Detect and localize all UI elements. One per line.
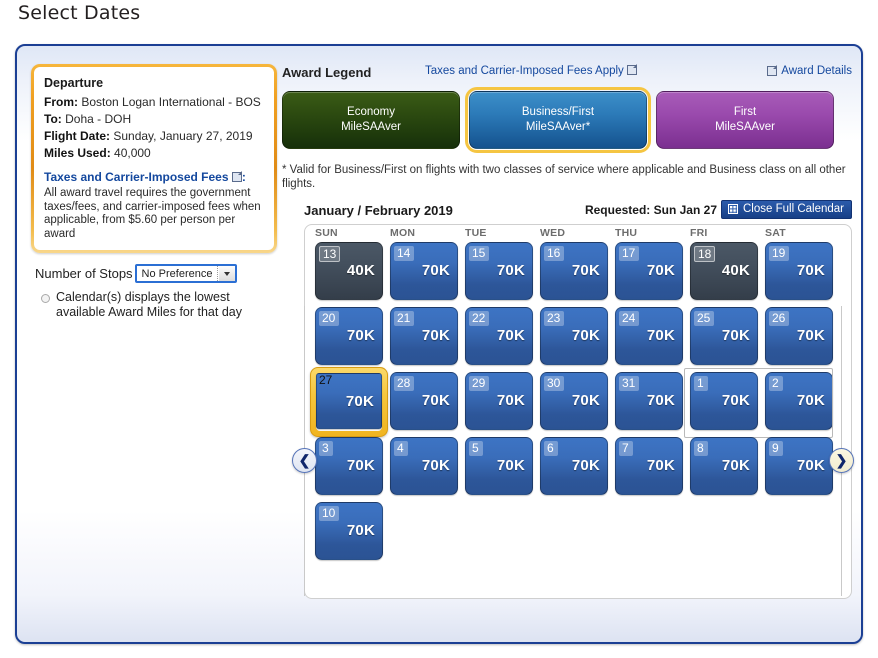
calendar-cell-empty	[538, 502, 610, 564]
day-award-miles: 70K	[722, 392, 750, 409]
day-award-miles: 70K	[797, 457, 825, 474]
day-award-miles: 70K	[647, 262, 675, 279]
taxes-link-colon: :	[242, 170, 246, 184]
departure-to-value: Doha - DOH	[65, 112, 131, 126]
day-number: 28	[394, 376, 414, 391]
calendar-cell-10: 1070K	[313, 502, 385, 564]
day-button-26[interactable]: 2670K	[765, 307, 833, 365]
departure-from-label: From:	[44, 95, 78, 109]
day-number: 26	[769, 311, 789, 326]
day-button-31[interactable]: 3170K	[615, 372, 683, 430]
day-award-miles: 70K	[422, 327, 450, 344]
day-number: 7	[619, 441, 633, 456]
day-award-miles: 70K	[422, 457, 450, 474]
day-button-10[interactable]: 1070K	[315, 502, 383, 560]
legend-button-business-first-line2: MileSAAver*	[526, 120, 590, 135]
calendar-cell-empty	[688, 502, 760, 564]
taxes-apply-link-label: Taxes and Carrier-Imposed Fees Apply	[425, 65, 624, 77]
day-button-8[interactable]: 870K	[690, 437, 758, 495]
calendar-dow-mon: MON	[388, 227, 460, 239]
award-details-link-label: Award Details	[781, 65, 852, 77]
calendar-grid-icon	[728, 204, 738, 214]
external-link-icon	[627, 65, 637, 75]
day-number: 25	[694, 311, 714, 326]
day-number: 6	[544, 441, 558, 456]
day-button-21[interactable]: 2170K	[390, 307, 458, 365]
legend-button-economy-line1: Economy	[347, 105, 395, 120]
departure-from-value: Boston Logan International - BOS	[81, 95, 260, 109]
day-award-miles: 40K	[722, 262, 750, 279]
calendar-weeks: 1340K1470K1570K1670K1770K1840K1970K2070K…	[313, 242, 843, 564]
calendar-dow-tue: TUE	[463, 227, 535, 239]
calendar-dow-sat: SAT	[763, 227, 835, 239]
departure-miles-row: Miles Used: 40,000	[44, 145, 264, 161]
day-button-13[interactable]: 1340K	[315, 242, 383, 300]
day-button-15[interactable]: 1570K	[465, 242, 533, 300]
day-button-7[interactable]: 770K	[615, 437, 683, 495]
day-award-miles: 70K	[722, 327, 750, 344]
legend-button-economy-line2: MileSAAver	[341, 120, 401, 135]
day-number: 1	[694, 376, 708, 391]
calendar-cell-empty	[388, 502, 460, 564]
previous-week-button[interactable]: ❮	[292, 448, 317, 473]
award-calendar-panel: Departure From: Boston Logan Internation…	[15, 44, 863, 644]
chevron-right-icon: ❯	[836, 453, 848, 467]
departure-to-row: To: Doha - DOH	[44, 111, 264, 127]
calendar-dow-thu: THU	[613, 227, 685, 239]
day-number: 10	[319, 506, 339, 521]
day-award-miles: 70K	[497, 392, 525, 409]
calendar-cell-24: 2470K	[613, 307, 685, 369]
award-legend-buttons: Economy MileSAAver Business/First MileSA…	[282, 91, 852, 149]
calendar-cell-20: 2070K	[313, 307, 385, 369]
departure-from-row: From: Boston Logan International - BOS	[44, 94, 264, 110]
number-of-stops-value: No Preference	[137, 266, 219, 281]
departure-date-label: Flight Date:	[44, 129, 110, 143]
day-number: 13	[319, 246, 340, 262]
day-number: 5	[469, 441, 483, 456]
external-link-icon	[767, 66, 777, 76]
calendar-cell-29: 2970K	[463, 372, 535, 434]
calendar-cell-empty	[613, 502, 685, 564]
departure-to-label: To:	[44, 112, 62, 126]
departure-miles-value: 40,000	[114, 146, 151, 160]
calendar-cell-3: 370K	[313, 437, 385, 499]
day-award-miles: 70K	[347, 457, 375, 474]
calendar-week-row: 1070K	[313, 502, 843, 564]
departure-heading: Departure	[44, 76, 264, 90]
day-number: 9	[769, 441, 783, 456]
number-of-stops-label: Number of Stops	[35, 266, 133, 281]
taxes-and-fees-description: All award travel requires the government…	[44, 187, 264, 241]
day-button-27[interactable]: 2770K	[316, 373, 382, 429]
day-button-22[interactable]: 2270K	[465, 307, 533, 365]
day-award-miles: 70K	[572, 457, 600, 474]
requested-date-label: Requested: Sun Jan 27	[585, 203, 717, 217]
calendar-dow-wed: WED	[538, 227, 610, 239]
calendar-week-row: 370K470K570K670K770K870K970K	[313, 437, 843, 499]
calendar-cell-17: 1770K	[613, 242, 685, 304]
legend-button-business-first-line1: Business/First	[522, 105, 594, 120]
calendar-cell-21: 2170K	[388, 307, 460, 369]
day-button-30[interactable]: 3070K	[540, 372, 608, 430]
calendar-month-title: January / February 2019	[304, 203, 453, 218]
screen: Select Dates Departure From: Boston Loga…	[0, 0, 878, 658]
number-of-stops-row: Number of Stops No Preference	[35, 264, 277, 283]
day-award-miles: 70K	[797, 392, 825, 409]
taxes-apply-link[interactable]: Taxes and Carrier-Imposed Fees Apply	[425, 65, 637, 77]
calendar-cell-23: 2370K	[538, 307, 610, 369]
radio-icon[interactable]	[41, 294, 50, 303]
departure-summary-card: Departure From: Boston Logan Internation…	[31, 64, 277, 253]
day-button-1[interactable]: 170K	[690, 372, 758, 430]
day-award-miles: 70K	[572, 392, 600, 409]
calendar-cell-19: 1970K	[763, 242, 835, 304]
calendar-dow-row: SUNMONTUEWEDTHUFRISAT	[313, 227, 843, 239]
day-number: 20	[319, 311, 339, 326]
taxes-and-fees-link-label: Taxes and Carrier-Imposed Fees	[44, 170, 229, 184]
calendar-grid: SUNMONTUEWEDTHUFRISAT 1340K1470K1570K167…	[304, 224, 852, 599]
calendar-cell-16: 1670K	[538, 242, 610, 304]
calendar-header: January / February 2019 Requested: Sun J…	[304, 202, 852, 220]
legend-button-first[interactable]: First MileSAAver	[656, 91, 834, 149]
day-number: 4	[394, 441, 408, 456]
calendar-cell-14: 1470K	[388, 242, 460, 304]
day-button-14[interactable]: 1470K	[390, 242, 458, 300]
day-button-18[interactable]: 1840K	[690, 242, 758, 300]
day-number: 2	[769, 376, 783, 391]
day-award-miles: 70K	[422, 262, 450, 279]
day-button-25[interactable]: 2570K	[690, 307, 758, 365]
calendar-cell-28: 2870K	[388, 372, 460, 434]
calendar: January / February 2019 Requested: Sun J…	[304, 202, 852, 599]
calendar-cell-30: 3070K	[538, 372, 610, 434]
award-legend-title: Award Legend	[282, 65, 371, 80]
day-award-miles: 70K	[722, 457, 750, 474]
award-legend-footnote: * Valid for Business/First on flights wi…	[282, 163, 854, 191]
day-number: 23	[544, 311, 564, 326]
calendar-cell-1: 170K	[688, 372, 760, 434]
day-award-miles: 70K	[647, 392, 675, 409]
day-number: 18	[694, 246, 715, 262]
calendar-note-label: Calendar(s) displays the lowest availabl…	[56, 290, 246, 320]
calendar-cell-9: 970K	[763, 437, 835, 499]
chevron-down-icon[interactable]	[218, 266, 235, 281]
calendar-cell-5: 570K	[463, 437, 535, 499]
day-button-29[interactable]: 2970K	[465, 372, 533, 430]
calendar-week-row: 2070K2170K2270K2370K2470K2570K2670K	[313, 307, 843, 369]
day-button-28[interactable]: 2870K	[390, 372, 458, 430]
day-number: 24	[619, 311, 639, 326]
day-button-23[interactable]: 2370K	[540, 307, 608, 365]
departure-date-value: Sunday, January 27, 2019	[113, 129, 252, 143]
day-button-2[interactable]: 270K	[765, 372, 833, 430]
calendar-cell-25: 2570K	[688, 307, 760, 369]
day-number: 21	[394, 311, 414, 326]
day-number: 29	[469, 376, 489, 391]
day-number: 17	[619, 246, 639, 261]
day-button-6[interactable]: 670K	[540, 437, 608, 495]
left-column: Departure From: Boston Logan Internation…	[31, 64, 277, 320]
award-details-link[interactable]: Award Details	[767, 65, 852, 77]
day-number: 22	[469, 311, 489, 326]
day-number: 3	[319, 441, 333, 456]
day-number: 16	[544, 246, 564, 261]
day-award-miles: 70K	[497, 262, 525, 279]
page-title: Select Dates	[18, 2, 140, 24]
day-number: 15	[469, 246, 489, 261]
day-button-24[interactable]: 2470K	[615, 307, 683, 365]
calendar-dow-sun: SUN	[313, 227, 385, 239]
calendar-week-row: 1340K1470K1570K1670K1770K1840K1970K	[313, 242, 843, 304]
day-number: 30	[544, 376, 564, 391]
day-number: 31	[619, 376, 639, 391]
departure-date-row: Flight Date: Sunday, January 27, 2019	[44, 128, 264, 144]
day-button-17[interactable]: 1770K	[615, 242, 683, 300]
day-button-3[interactable]: 370K	[315, 437, 383, 495]
day-award-miles: 70K	[497, 327, 525, 344]
next-week-button[interactable]: ❯	[829, 448, 854, 473]
day-award-miles: 70K	[347, 522, 375, 539]
departure-miles-label: Miles Used:	[44, 146, 111, 160]
calendar-note-row[interactable]: Calendar(s) displays the lowest availabl…	[41, 290, 277, 320]
day-award-miles: 70K	[347, 327, 375, 344]
day-button-5[interactable]: 570K	[465, 437, 533, 495]
calendar-cell-15: 1570K	[463, 242, 535, 304]
day-button-16[interactable]: 1670K	[540, 242, 608, 300]
calendar-cell-empty	[463, 502, 535, 564]
calendar-cell-26: 2670K	[763, 307, 835, 369]
calendar-cell-22: 2270K	[463, 307, 535, 369]
right-column: Award Legend Taxes and Carrier-Imposed F…	[282, 64, 852, 599]
calendar-week-row: 2770K2870K2970K3070K3170K170K270K	[313, 372, 843, 434]
day-award-miles: 70K	[647, 457, 675, 474]
close-full-calendar-button[interactable]: Close Full Calendar	[721, 200, 852, 219]
legend-button-first-line1: First	[734, 105, 756, 120]
external-link-icon	[232, 172, 242, 182]
calendar-cell-2: 270K	[763, 372, 835, 434]
calendar-cell-27: 2770K	[313, 372, 385, 434]
day-award-miles: 40K	[347, 262, 375, 279]
day-number: 27	[316, 373, 336, 388]
day-number: 14	[394, 246, 414, 261]
legend-button-first-line2: MileSAAver	[715, 120, 775, 135]
calendar-cell-13: 1340K	[313, 242, 385, 304]
day-award-miles: 70K	[346, 393, 374, 410]
calendar-dow-fri: FRI	[688, 227, 760, 239]
day-award-miles: 70K	[572, 262, 600, 279]
calendar-cell-6: 670K	[538, 437, 610, 499]
day-award-miles: 70K	[647, 327, 675, 344]
day-number: 8	[694, 441, 708, 456]
day-award-miles: 70K	[797, 262, 825, 279]
number-of-stops-select[interactable]: No Preference	[135, 264, 238, 283]
calendar-cell-8: 870K	[688, 437, 760, 499]
day-number: 19	[769, 246, 789, 261]
day-award-miles: 70K	[422, 392, 450, 409]
close-full-calendar-label: Close Full Calendar	[743, 203, 844, 215]
calendar-cell-31: 3170K	[613, 372, 685, 434]
legend-button-economy[interactable]: Economy MileSAAver	[282, 91, 460, 149]
day-award-miles: 70K	[572, 327, 600, 344]
calendar-cell-4: 470K	[388, 437, 460, 499]
calendar-cell-empty	[763, 502, 835, 564]
day-award-miles: 70K	[797, 327, 825, 344]
day-button-19[interactable]: 1970K	[765, 242, 833, 300]
calendar-cell-18: 1840K	[688, 242, 760, 304]
award-legend-header: Award Legend Taxes and Carrier-Imposed F…	[282, 64, 852, 84]
calendar-cell-7: 770K	[613, 437, 685, 499]
day-award-miles: 70K	[497, 457, 525, 474]
day-button-20[interactable]: 2070K	[315, 307, 383, 365]
day-button-9[interactable]: 970K	[765, 437, 833, 495]
legend-button-business-first[interactable]: Business/First MileSAAver*	[469, 91, 647, 149]
day-button-4[interactable]: 470K	[390, 437, 458, 495]
chevron-left-icon: ❮	[299, 453, 311, 467]
taxes-and-fees-link[interactable]: Taxes and Carrier-Imposed Fees :	[44, 170, 264, 185]
